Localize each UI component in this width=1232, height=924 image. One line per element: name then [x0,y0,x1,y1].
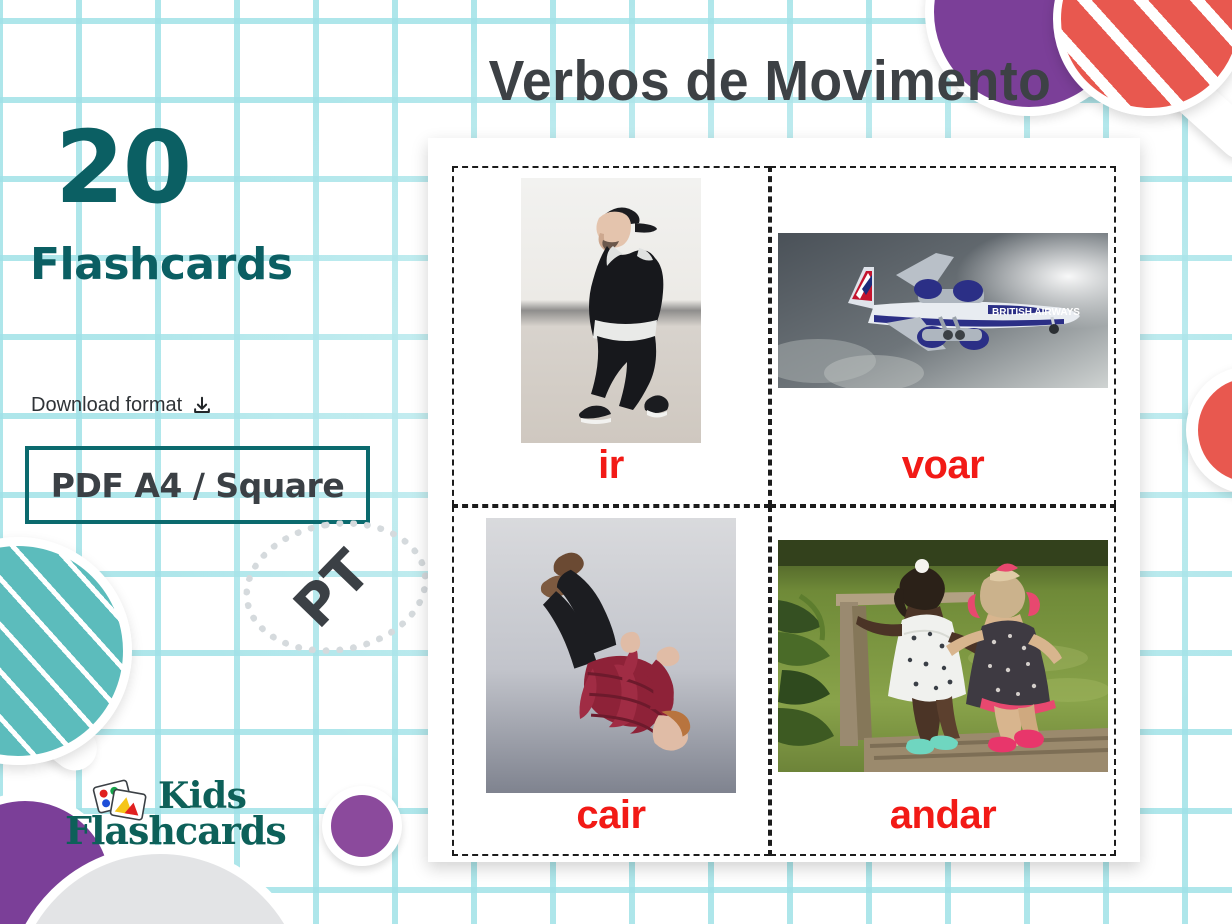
flashcard-count-label: Flashcards [30,243,293,287]
format-select-label: PDF A4 / Square [51,466,344,505]
page-title: Verbos de Movimento [450,48,1089,114]
airplane-flying-photo: BRITISH AIRWAYS [778,178,1108,443]
man-walking-photo [460,178,762,443]
flashcard-count: 20 [55,118,190,218]
site-logo[interactable]: Kids Flashcards [78,775,338,863]
svg-text:BRITISH AIRWAYS: BRITISH AIRWAYS [992,307,1080,318]
two-girls-walking-photo [778,518,1108,793]
flashcard-item[interactable]: cair [452,506,770,856]
person-falling-photo [460,518,762,793]
flashcard-item[interactable]: BRITISH AIRWAYS [770,166,1116,506]
flashcard-word: ir [598,443,624,500]
flashcard-item[interactable]: ir [452,166,770,506]
flashcard-word: voar [902,443,985,500]
flashcard-grid: ir [452,166,1116,836]
download-format-label: Download format [31,394,182,417]
flashcard-sheet: ir [428,138,1140,862]
format-select-button[interactable]: PDF A4 / Square [25,446,370,524]
flashcard-word: andar [890,793,996,850]
sidebar: 20 Flashcards Download format PDF A4 / S… [0,0,430,924]
flashcards-page: 20 Flashcards Download format PDF A4 / S… [0,0,1232,924]
language-badge: PT [243,521,429,653]
download-format-row: Download format [31,394,213,417]
logo-line-flashcards: Flashcards [65,808,286,853]
flashcard-word: cair [576,793,645,850]
download-icon [191,395,213,417]
flashcard-item[interactable]: andar [770,506,1116,856]
